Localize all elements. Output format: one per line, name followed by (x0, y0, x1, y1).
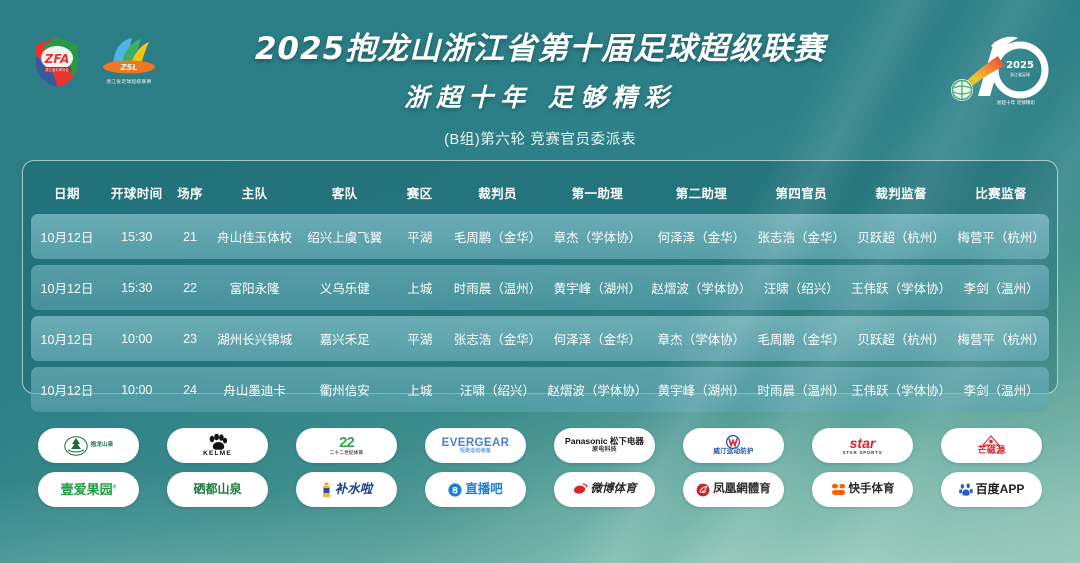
sponsor-baolongshan[interactable]: 抱龙山泉 (38, 428, 139, 463)
sponsor-twentytwo[interactable]: 22 二十二世纪体育 (296, 428, 397, 463)
cell-assistant-2: 黄宇峰（湖州） (649, 367, 753, 412)
poster-title: 2025抱龙山浙江省第十届足球超级联赛 (0, 32, 1080, 67)
cell-zone: 平湖 (390, 316, 450, 361)
sponsor-kuaishou-sports[interactable]: 快手体育 (812, 472, 913, 507)
cell-referee-supervisor: 贝跃超（杭州） (849, 214, 953, 259)
table-header-row: 日期 开球时间 场序 主队 客队 赛区 裁判员 第一助理 第二助理 第四官员 裁… (31, 173, 1049, 208)
sponsor-bushuila[interactable]: 补水啦 (296, 472, 397, 507)
anniversary-year-text: 2025 (1006, 60, 1034, 71)
pine-mountain-icon (64, 435, 88, 457)
cell-zone: 上城 (390, 265, 450, 310)
cell-assistant-1: 章杰（学体协） (545, 214, 649, 259)
cell-referee: 汪啸（绍兴） (450, 367, 546, 412)
tenth-anniversary-logo: 2025 浙江省足球 浙超十年 足够精彩 (944, 26, 1054, 112)
sponsor-evergear[interactable]: EVERGEAR 恒跑运动装备 (425, 428, 526, 463)
water-bottle-icon (321, 482, 332, 498)
sponsor-weiting[interactable]: 威汀运动防护 (683, 428, 784, 463)
table-row[interactable]: 10月12日 10:00 24 舟山墨迪卡 衢州信安 上城 汪啸（绍兴） 赵熠波… (31, 367, 1049, 412)
cell-fourth-official: 张志浩（金华） (753, 214, 849, 259)
cell-referee: 毛周鹏（金华） (450, 214, 546, 259)
officials-table-container: 日期 开球时间 场序 主队 客队 赛区 裁判员 第一助理 第二助理 第四官员 裁… (22, 160, 1058, 394)
anniversary-caption-text: 浙超十年 足够精彩 (997, 99, 1036, 106)
cell-order: 23 (171, 316, 210, 361)
sponsor-label: KELME (203, 451, 232, 458)
cell-time: 10:00 (103, 367, 171, 412)
cell-referee: 时雨晨（温州） (450, 265, 546, 310)
cell-order: 22 (171, 265, 210, 310)
table-row[interactable]: 10月12日 10:00 23 湖州长兴锦城 嘉兴禾足 平湖 张志浩（金华） 何… (31, 316, 1049, 361)
sponsor-kelme[interactable]: KELME (167, 428, 268, 463)
poster-subtitle: 浙超十年 足够精彩 (0, 78, 1080, 114)
sponsor-label: 威汀运动防护 (713, 449, 753, 456)
cell-match-supervisor: 梅营平（杭州） (953, 316, 1049, 361)
sponsor-section: 抱龙山泉 KELME 22 (0, 428, 1080, 507)
cell-away-team: 衢州信安 (300, 367, 390, 412)
cell-date: 10月12日 (31, 214, 103, 259)
sponsor-mangciyuan[interactable]: 芒磁源 (941, 428, 1042, 463)
col-header-zone: 赛区 (390, 173, 450, 208)
col-header-date: 日期 (31, 173, 103, 208)
table-row[interactable]: 10月12日 15:30 22 富阳永隆 义乌乐健 上城 时雨晨（温州） 黄宇峰… (31, 265, 1049, 310)
col-header-kickoff-time: 开球时间 (103, 173, 171, 208)
cell-referee: 张志浩（金华） (450, 316, 546, 361)
cell-referee-supervisor: 王伟跃（学体协） (849, 367, 953, 412)
cell-assistant-1: 黄宇峰（湖州） (545, 265, 649, 310)
baidu-icon (959, 483, 973, 497)
cell-assistant-1: 何泽泽（金华） (545, 316, 649, 361)
cell-away-team: 义乌乐健 (300, 265, 390, 310)
cell-assistant-2: 赵熠波（学体协） (649, 265, 753, 310)
col-header-match-supervisor: 比赛监督 (953, 173, 1049, 208)
sponsor-yiaiguoyuan[interactable]: 壹爱果园® (38, 472, 139, 507)
cell-match-supervisor: 李剑（温州） (953, 265, 1049, 310)
cell-match-supervisor: 梅营平（杭州） (953, 214, 1049, 259)
sponsor-label: 原电科技 (565, 447, 644, 453)
cell-fourth-official: 汪啸（绍兴） (753, 265, 849, 310)
cell-home-team: 舟山佳玉体校 (210, 214, 300, 259)
sponsor-weibo-sports[interactable]: 微博体育 (554, 472, 655, 507)
sponsor-baidu-app[interactable]: 百度APP (941, 472, 1042, 507)
cell-home-team: 舟山墨迪卡 (210, 367, 300, 412)
cell-home-team: 湖州长兴锦城 (210, 316, 300, 361)
cell-referee-supervisor: 贝跃超（杭州） (849, 316, 953, 361)
cell-date: 10月12日 (31, 265, 103, 310)
col-header-fourth-official: 第四官员 (753, 173, 849, 208)
sponsor-panasonic[interactable]: Panasonic 松下电器 原电科技 (554, 428, 655, 463)
sponsor-label: 二十二世纪体育 (330, 451, 364, 456)
cell-order: 21 (171, 214, 210, 259)
sponsor-mark: 壹爱果园 (61, 482, 113, 497)
cell-assistant-2: 章杰（学体协） (649, 316, 753, 361)
paw-icon (208, 434, 228, 451)
poster-page: ZFA 浙江省足球协会 ZSL 浙江省足球超级联赛 2025抱龙山浙江省第十届足… (0, 0, 1080, 563)
sponsor-mark: 直播吧 (465, 483, 503, 496)
sponsor-xidushanquan[interactable]: 硒都山泉 (167, 472, 268, 507)
cell-assistant-1: 赵熠波（学体协） (545, 367, 649, 412)
col-header-away-team: 客队 (300, 173, 390, 208)
sponsor-mark: 快手体育 (849, 483, 895, 495)
sponsor-mark: star (843, 436, 883, 451)
cell-away-team: 嘉兴禾足 (300, 316, 390, 361)
zhibo8-icon: 8 (448, 483, 462, 497)
sponsor-zhibo8[interactable]: 8 直播吧 (425, 472, 526, 507)
sponsor-mark: 凤凰網體育 (713, 483, 771, 495)
col-header-home-team: 主队 (210, 173, 300, 208)
cell-date: 10月12日 (31, 367, 103, 412)
sponsor-star[interactable]: star STAR SPORTS (812, 428, 913, 463)
col-header-referee: 裁判员 (450, 173, 546, 208)
col-header-assistant-1: 第一助理 (545, 173, 649, 208)
table-head: 日期 开球时间 场序 主队 客队 赛区 裁判员 第一助理 第二助理 第四官员 裁… (31, 173, 1049, 208)
cell-time: 10:00 (103, 316, 171, 361)
cell-assistant-2: 何泽泽（金华） (649, 214, 753, 259)
sponsor-row-2: 壹爱果园® 硒都山泉 补水啦 (38, 472, 1042, 507)
weibo-icon (573, 483, 588, 496)
table-row[interactable]: 10月12日 15:30 21 舟山佳玉体校 绍兴上虞飞翼 平湖 毛周鹏（金华）… (31, 214, 1049, 259)
kuaishou-icon (831, 483, 846, 496)
sponsor-row-1: 抱龙山泉 KELME 22 (38, 428, 1042, 463)
registered-mark: ® (113, 484, 117, 490)
cell-zone: 上城 (390, 367, 450, 412)
cell-date: 10月12日 (31, 316, 103, 361)
sponsor-mark: 硒都山泉 (193, 483, 241, 496)
col-header-match-order: 场序 (171, 173, 210, 208)
sponsor-mark: 百度APP (976, 483, 1025, 496)
anniversary-10-icon: 2025 浙江省足球 浙超十年 足够精彩 (944, 26, 1054, 112)
title-block: 2025抱龙山浙江省第十届足球超级联赛 浙超十年 足够精彩 (B组)第六轮 竞赛… (0, 32, 1080, 149)
svg-text:8: 8 (452, 486, 458, 496)
col-header-assistant-2: 第二助理 (649, 173, 753, 208)
sponsor-mark: 22 (330, 435, 364, 451)
round-label: (B组)第六轮 竞赛官员委派表 (0, 128, 1080, 149)
table-body: 10月12日 15:30 21 舟山佳玉体校 绍兴上虞飞翼 平湖 毛周鹏（金华）… (31, 214, 1049, 412)
cell-zone: 平湖 (390, 214, 450, 259)
sponsor-label: 芒磁源 (978, 446, 1006, 455)
svg-text:浙江省足球: 浙江省足球 (1010, 71, 1030, 77)
cell-time: 15:30 (103, 214, 171, 259)
ifeng-icon (696, 483, 710, 497)
cell-home-team: 富阳永隆 (210, 265, 300, 310)
cell-away-team: 绍兴上虞飞翼 (300, 214, 390, 259)
cell-fourth-official: 毛周鹏（金华） (753, 316, 849, 361)
cell-order: 24 (171, 367, 210, 412)
cell-match-supervisor: 李剑（温州） (953, 367, 1049, 412)
sponsor-mark: 微博体育 (591, 483, 637, 495)
col-header-referee-supervisor: 裁判监督 (849, 173, 953, 208)
cell-time: 15:30 (103, 265, 171, 310)
officials-table: 日期 开球时间 场序 主队 客队 赛区 裁判员 第一助理 第二助理 第四官员 裁… (31, 167, 1049, 418)
poster-header: ZFA 浙江省足球协会 ZSL 浙江省足球超级联赛 2025抱龙山浙江省第十届足… (0, 0, 1080, 158)
w-circle-icon (720, 435, 746, 449)
sponsor-mark: Panasonic 松下电器 (565, 437, 644, 446)
sponsor-label: STAR SPORTS (843, 451, 883, 456)
cell-fourth-official: 时雨晨（温州） (753, 367, 849, 412)
cell-referee-supervisor: 王伟跃（学体协） (849, 265, 953, 310)
sponsor-mark: 补水啦 (335, 483, 373, 496)
sponsor-label: 恒跑运动装备 (442, 449, 510, 454)
sponsor-label: 抱龙山泉 (91, 443, 114, 449)
sponsor-ifeng-sports[interactable]: 凤凰網體育 (683, 472, 784, 507)
